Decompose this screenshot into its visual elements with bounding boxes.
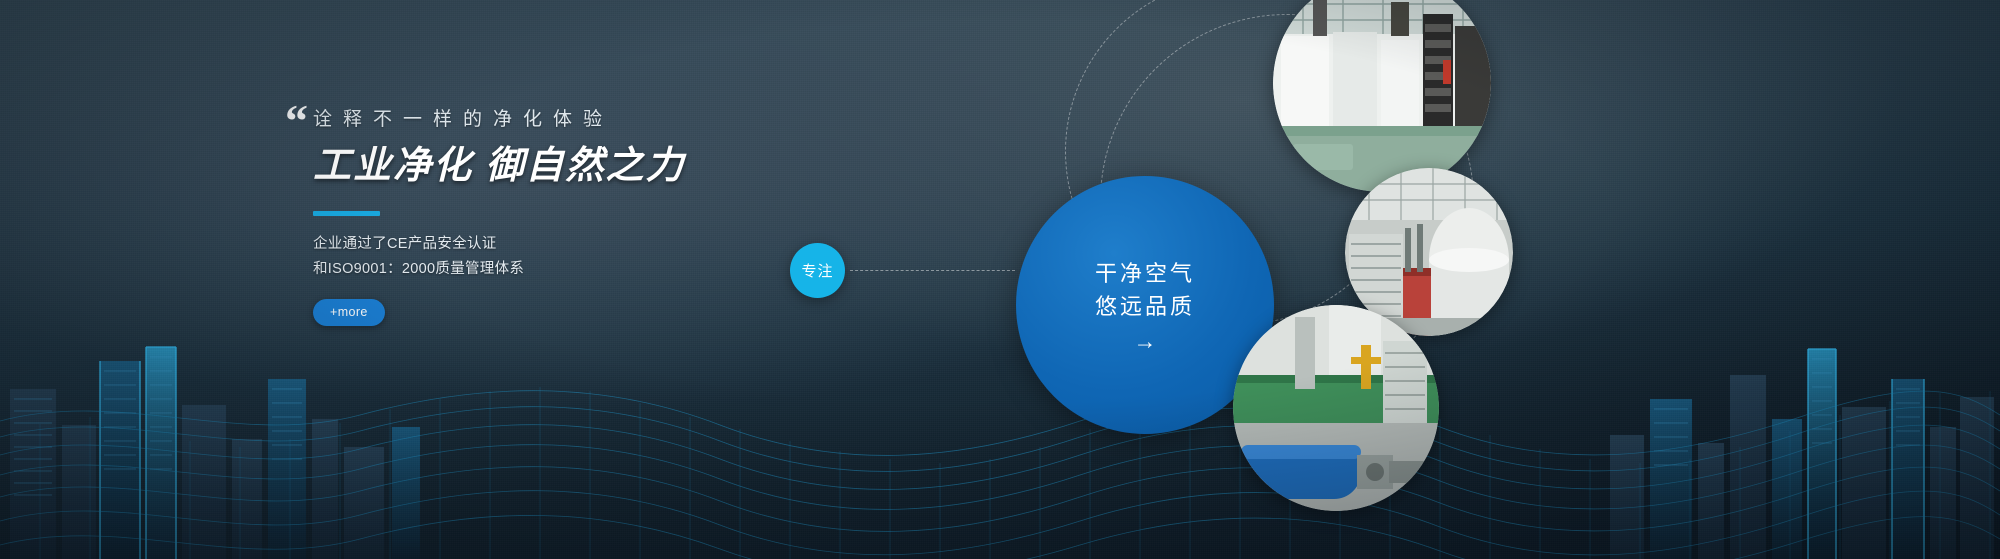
- circle-line-2: 悠远品质: [1095, 290, 1195, 323]
- hero-description-line-2: 和ISO9001：2000质量管理体系: [313, 257, 873, 282]
- hero-description-line-1: 企业通过了CE产品安全认证: [313, 232, 873, 257]
- hero-subtitle: 诠释不一样的净化体验: [313, 104, 873, 131]
- graphic-group: 专注 干净空气 悠远品质 →: [0, 0, 2000, 559]
- accent-divider: [313, 211, 380, 216]
- circle-line-1: 干净空气: [1095, 257, 1195, 290]
- photo-pipe-equipment-art: [1233, 305, 1439, 511]
- quote-mark-icon: “: [285, 98, 306, 144]
- hero-text-block: “ 诠释不一样的净化体验 工业净化 御自然之力 企业通过了CE产品安全认证 和I…: [313, 104, 873, 326]
- connector-line: [850, 270, 1015, 271]
- photo-pipe-equipment[interactable]: [1233, 305, 1439, 511]
- hero-banner: 专注 干净空气 悠远品质 →: [0, 0, 2000, 559]
- arrow-right-icon: →: [1134, 330, 1157, 353]
- more-button[interactable]: +more: [313, 299, 385, 326]
- hero-description: 企业通过了CE产品安全认证 和ISO9001：2000质量管理体系: [313, 232, 873, 282]
- hero-headline: 工业净化 御自然之力: [313, 145, 873, 189]
